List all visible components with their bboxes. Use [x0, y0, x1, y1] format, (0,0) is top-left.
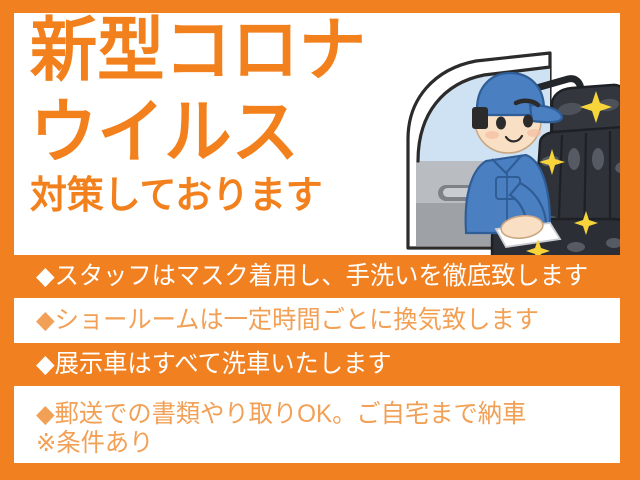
measure-row-2: ◆ショールームは一定時間ごとに換気致します [14, 299, 620, 342]
covid-notice-poster: 新型コロナ ウイルス 対策しております ◆スタッフはマスク着用し、手洗いを徹底致… [0, 0, 640, 480]
measure-row-1: ◆スタッフはマスク着用し、手洗いを徹底致します [14, 255, 620, 298]
measure-row-3-text: ◆展示車はすべて洗車いたします [36, 352, 391, 377]
headline-line-2: ウイルス [30, 97, 414, 177]
measures-list: ◆スタッフはマスク着用し、手洗いを徹底致します ◆ショールームは一定時間ごとに換… [14, 255, 620, 463]
worker-cleaning-car-seat-illustration [400, 43, 620, 261]
measure-row-4-text: ◆郵送での書類やり取りOK。ご自宅まで納車 [36, 402, 526, 427]
measure-row-1-text: ◆スタッフはマスク着用し、手洗いを徹底致します [36, 264, 588, 289]
poster-inner-panel: 新型コロナ ウイルス 対策しております ◆スタッフはマスク着用し、手洗いを徹底致… [14, 13, 620, 463]
headline-line-1: 新型コロナ [30, 15, 414, 97]
measure-row-4-note: ※条件あり [36, 431, 153, 456]
measure-row-3: ◆展示車はすべて洗車いたします [14, 343, 620, 386]
measure-row-2-text: ◆ショールームは一定時間ごとに換気致します [36, 308, 539, 333]
headline-line-3: 対策しております [30, 177, 418, 223]
measure-row-4: ◆郵送での書類やり取りOK。ご自宅まで納車 ※条件あり [14, 387, 620, 463]
headline-block: 新型コロナ ウイルス 対策しております [30, 15, 430, 223]
